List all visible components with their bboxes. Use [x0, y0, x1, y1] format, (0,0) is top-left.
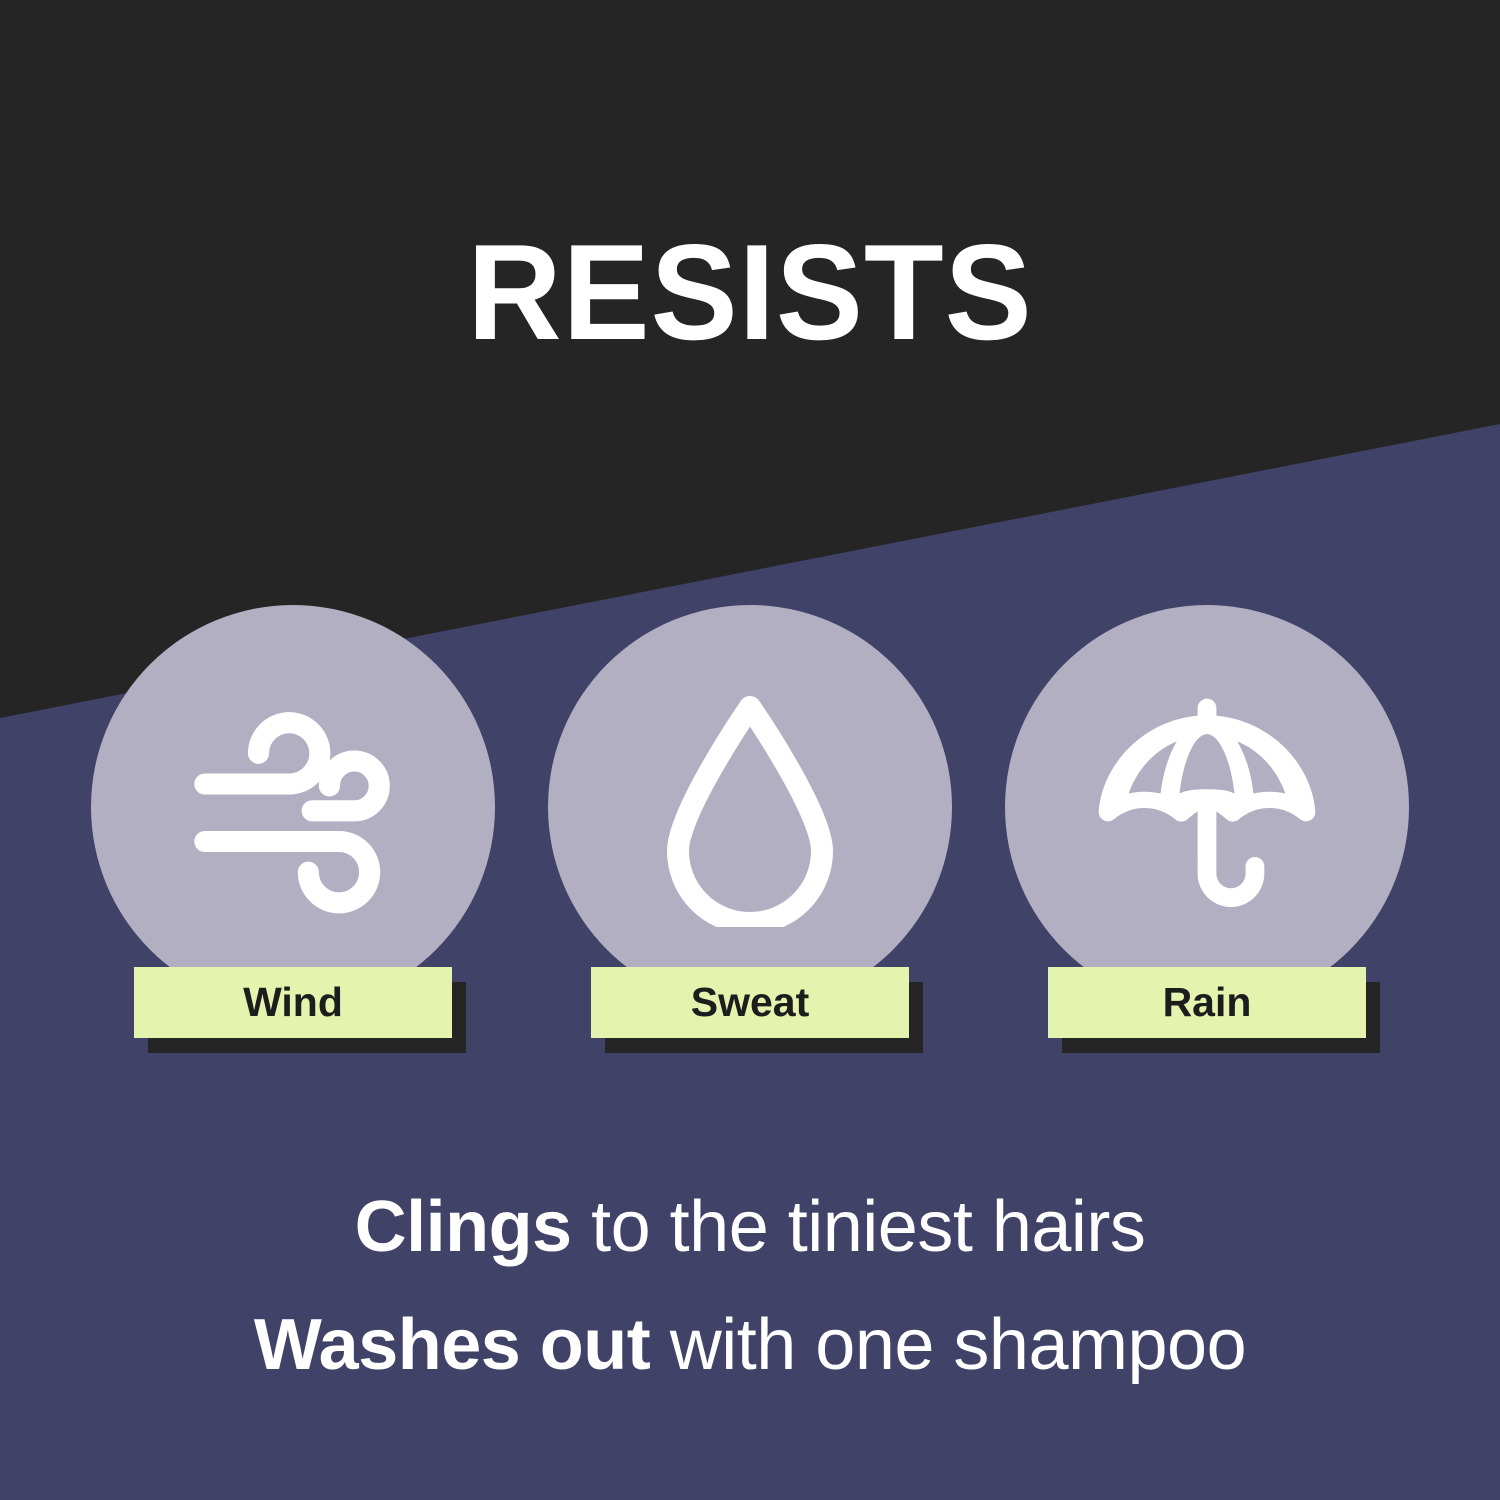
tagline-line-2: Washes out with one shampoo — [0, 1286, 1500, 1404]
umbrella-icon — [1005, 605, 1409, 1009]
feature-item-wind: Wind — [91, 605, 495, 1065]
tagline-emphasis: Washes out — [254, 1305, 650, 1385]
feature-row: Wind Sweat — [0, 605, 1500, 1065]
chip-label: Rain — [1163, 982, 1252, 1023]
tagline-rest: with one shampoo — [650, 1305, 1246, 1385]
tagline-block: Clings to the tiniest hairs Washes out w… — [0, 1168, 1500, 1404]
water-drop-icon — [548, 605, 952, 1009]
marketing-poster: RESISTS Win — [0, 0, 1500, 1500]
chip-sweat: Sweat — [591, 967, 909, 1038]
chip-rain: Rain — [1048, 967, 1366, 1038]
feature-item-rain: Rain — [1005, 605, 1409, 1065]
chip-label: Sweat — [691, 982, 810, 1023]
chip-body: Rain — [1048, 967, 1366, 1038]
chip-wind: Wind — [134, 967, 452, 1038]
chip-body: Wind — [134, 967, 452, 1038]
tagline-line-1: Clings to the tiniest hairs — [0, 1168, 1500, 1286]
wind-icon — [91, 605, 495, 1009]
page-title: RESISTS — [30, 224, 1470, 360]
tagline-emphasis: Clings — [355, 1187, 572, 1267]
tagline-rest: to the tiniest hairs — [572, 1187, 1146, 1267]
chip-body: Sweat — [591, 967, 909, 1038]
feature-item-sweat: Sweat — [548, 605, 952, 1065]
chip-label: Wind — [243, 982, 343, 1023]
